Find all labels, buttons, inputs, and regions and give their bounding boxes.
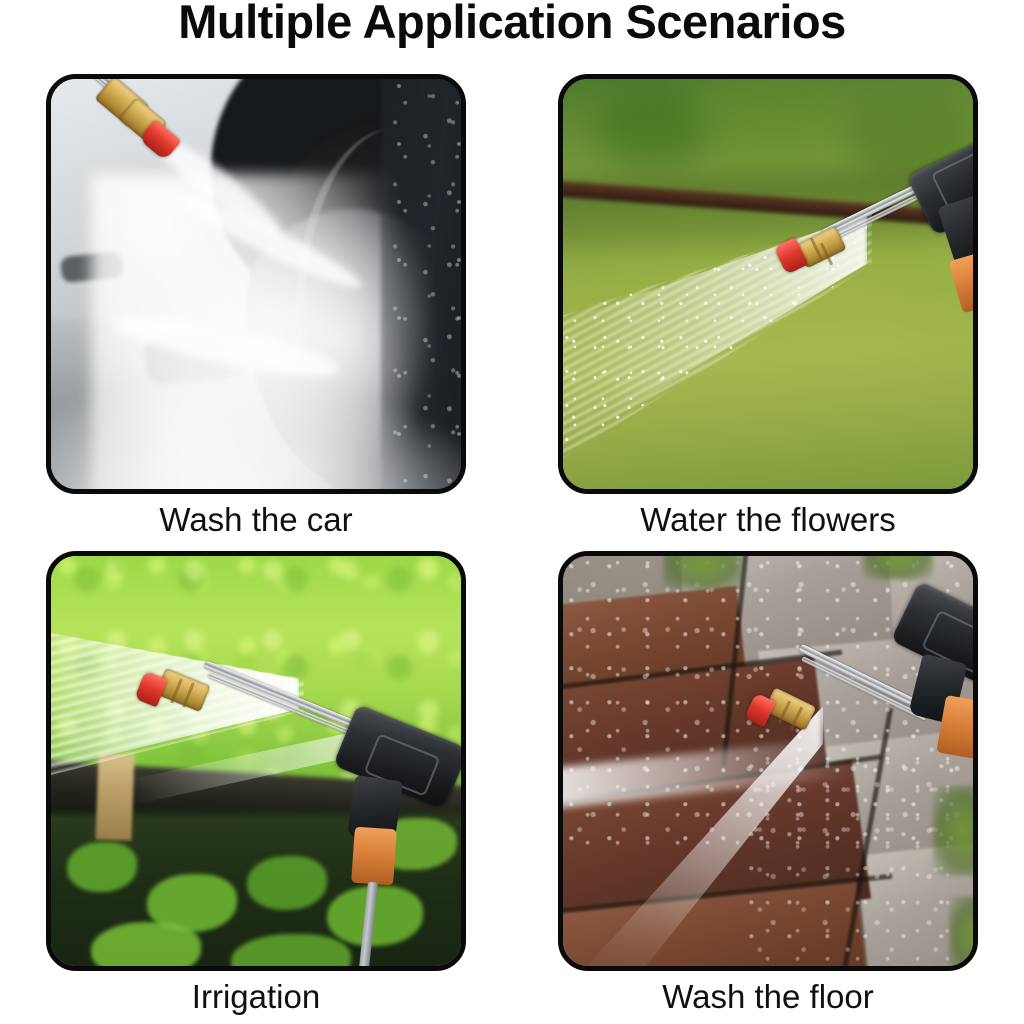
scene-water-the-flowers [563, 79, 973, 489]
caption-wash-the-floor: Wash the floor [558, 977, 978, 1017]
page-title: Multiple Application Scenarios [0, 0, 1024, 48]
leaf-clump [67, 842, 137, 892]
panel-water-the-flowers [558, 74, 978, 494]
moss-patch [863, 556, 933, 580]
caption-wash-the-car: Wash the car [46, 500, 466, 540]
scene-wash-the-car [51, 79, 461, 489]
moss-patch [663, 556, 743, 590]
ground-splash [51, 379, 461, 489]
panel-irrigation [46, 551, 466, 971]
infographic-root: Multiple Application Scenarios [0, 0, 1024, 1024]
leaf-clump [91, 922, 201, 966]
leaf-clump [247, 856, 327, 910]
moss-patch [949, 896, 973, 966]
moss-patch [933, 786, 973, 876]
panel-wash-the-car [46, 74, 466, 494]
hose-connector [351, 827, 397, 886]
scene-wash-the-floor [563, 556, 973, 966]
panel-wash-the-floor [558, 551, 978, 971]
scene-irrigation [51, 556, 461, 966]
caption-irrigation: Irrigation [46, 977, 466, 1017]
caption-water-the-flowers: Water the flowers [558, 500, 978, 540]
